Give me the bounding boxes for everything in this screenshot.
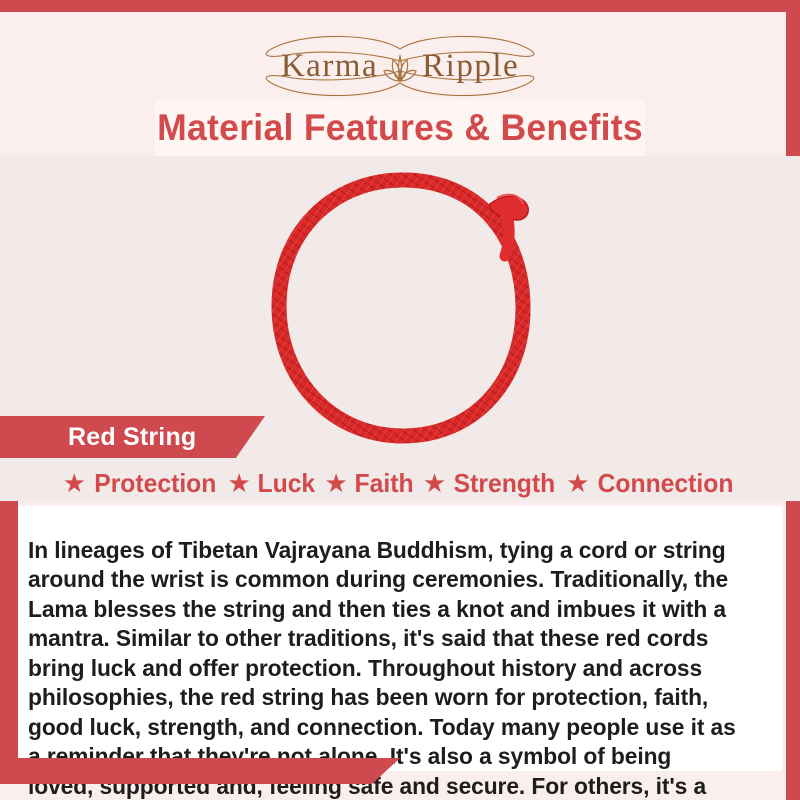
benefit-label-faith: Faith	[354, 468, 413, 499]
infographic-page: Karma Ripple Material Features & Benefit…	[0, 0, 800, 800]
top-border-accent	[0, 0, 800, 12]
lotus-icon	[377, 51, 423, 85]
brand-logo-inner: Karma Ripple	[235, 31, 565, 101]
benefit-label-strength: Strength	[454, 468, 556, 499]
brand-name-right: Ripple	[422, 48, 519, 85]
star-icon: ★	[227, 470, 250, 496]
benefit-item-protection: ★ Protection	[63, 468, 220, 499]
benefit-label-luck: Luck	[257, 468, 315, 499]
star-icon: ★	[324, 470, 347, 496]
benefit-item-strength: ★ Strength	[423, 468, 558, 499]
benefits-list: ★ Protection ★ Luck ★ Faith ★ Strength ★…	[0, 464, 800, 502]
benefit-item-faith: ★ Faith	[324, 468, 414, 499]
page-title: Material Features & Benefits	[157, 107, 643, 149]
benefit-item-luck: ★ Luck	[227, 468, 316, 499]
material-label: Red String	[68, 423, 196, 452]
benefit-item-connection: ★ Connection	[566, 468, 737, 499]
brand-logo: Karma Ripple	[0, 30, 800, 102]
material-label-banner: Red String	[0, 416, 265, 458]
bottom-border-accent	[0, 758, 400, 784]
description-panel: In lineages of Tibetan Vajrayana Buddhis…	[18, 506, 782, 771]
star-icon: ★	[423, 470, 446, 496]
brand-name-left: Karma	[281, 48, 378, 85]
red-string-bracelet-icon	[235, 164, 575, 464]
title-banner: Material Features & Benefits	[155, 100, 645, 156]
star-icon: ★	[63, 470, 86, 496]
benefit-label-protection: Protection	[94, 468, 216, 499]
benefit-label-connection: Connection	[598, 468, 734, 499]
star-icon: ★	[566, 470, 589, 496]
